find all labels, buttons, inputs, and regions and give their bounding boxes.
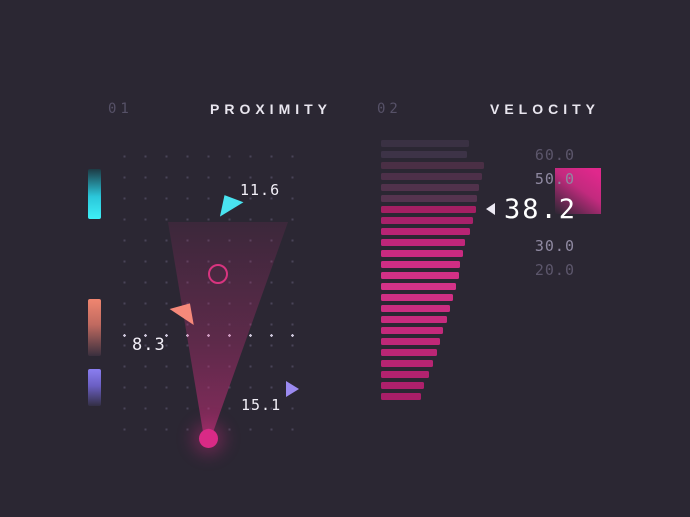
velocity-bar	[381, 261, 460, 268]
velocity-bar	[381, 371, 429, 378]
panel-title-proximity: PROXIMITY	[210, 101, 332, 117]
purple-triangle-marker-icon[interactable]	[286, 381, 299, 397]
velocity-bar	[381, 195, 477, 202]
velocity-bar	[381, 393, 421, 400]
velocity-bar	[381, 283, 456, 290]
panel-index-velocity: 02	[377, 101, 402, 117]
velocity-bar	[381, 151, 467, 158]
velocity-bar	[381, 217, 473, 224]
velocity-bar	[381, 239, 465, 246]
legend-swatch-salmon[interactable]	[88, 299, 101, 356]
velocity-tick-20: 20.0	[505, 261, 575, 279]
velocity-bar	[381, 162, 484, 169]
velocity-bar	[381, 338, 440, 345]
velocity-bar	[381, 173, 482, 180]
velocity-bar	[381, 360, 433, 367]
velocity-bar	[381, 250, 463, 257]
emitter-dot-icon[interactable]	[199, 429, 218, 448]
velocity-bar	[381, 206, 476, 213]
panel-index-proximity: 01	[108, 101, 133, 117]
velocity-tick-60: 60.0	[505, 146, 575, 164]
velocity-tick-30: 30.0	[505, 237, 575, 255]
readout-purple-value: 15.1	[241, 396, 281, 414]
salmon-triangle-marker-icon[interactable]	[169, 303, 194, 328]
velocity-bar	[381, 316, 447, 323]
velocity-bar	[381, 349, 437, 356]
velocity-bar	[381, 327, 443, 334]
velocity-bar	[381, 140, 469, 147]
panel-title-velocity: VELOCITY	[490, 101, 600, 117]
velocity-tick-50: 50.0	[505, 170, 575, 188]
velocity-bar	[381, 228, 470, 235]
velocity-bar	[381, 184, 479, 191]
readout-salmon-value: 8.3	[132, 335, 166, 355]
legend-swatch-cyan[interactable]	[88, 169, 101, 219]
target-ring-marker-icon[interactable]	[208, 264, 228, 284]
velocity-bar	[381, 294, 453, 301]
velocity-bar	[381, 272, 459, 279]
legend-swatch-purple[interactable]	[88, 369, 101, 406]
velocity-bar	[381, 382, 424, 389]
left-arrow-icon	[486, 203, 495, 215]
velocity-bar-chart	[381, 140, 491, 404]
dashboard-stage: 01 PROXIMITY 02 VELOCITY 11.6 8.3 15.1 6…	[0, 0, 690, 517]
velocity-current-value: 38.2	[504, 194, 577, 225]
readout-cyan-value: 11.6	[240, 181, 280, 199]
velocity-bar	[381, 305, 450, 312]
